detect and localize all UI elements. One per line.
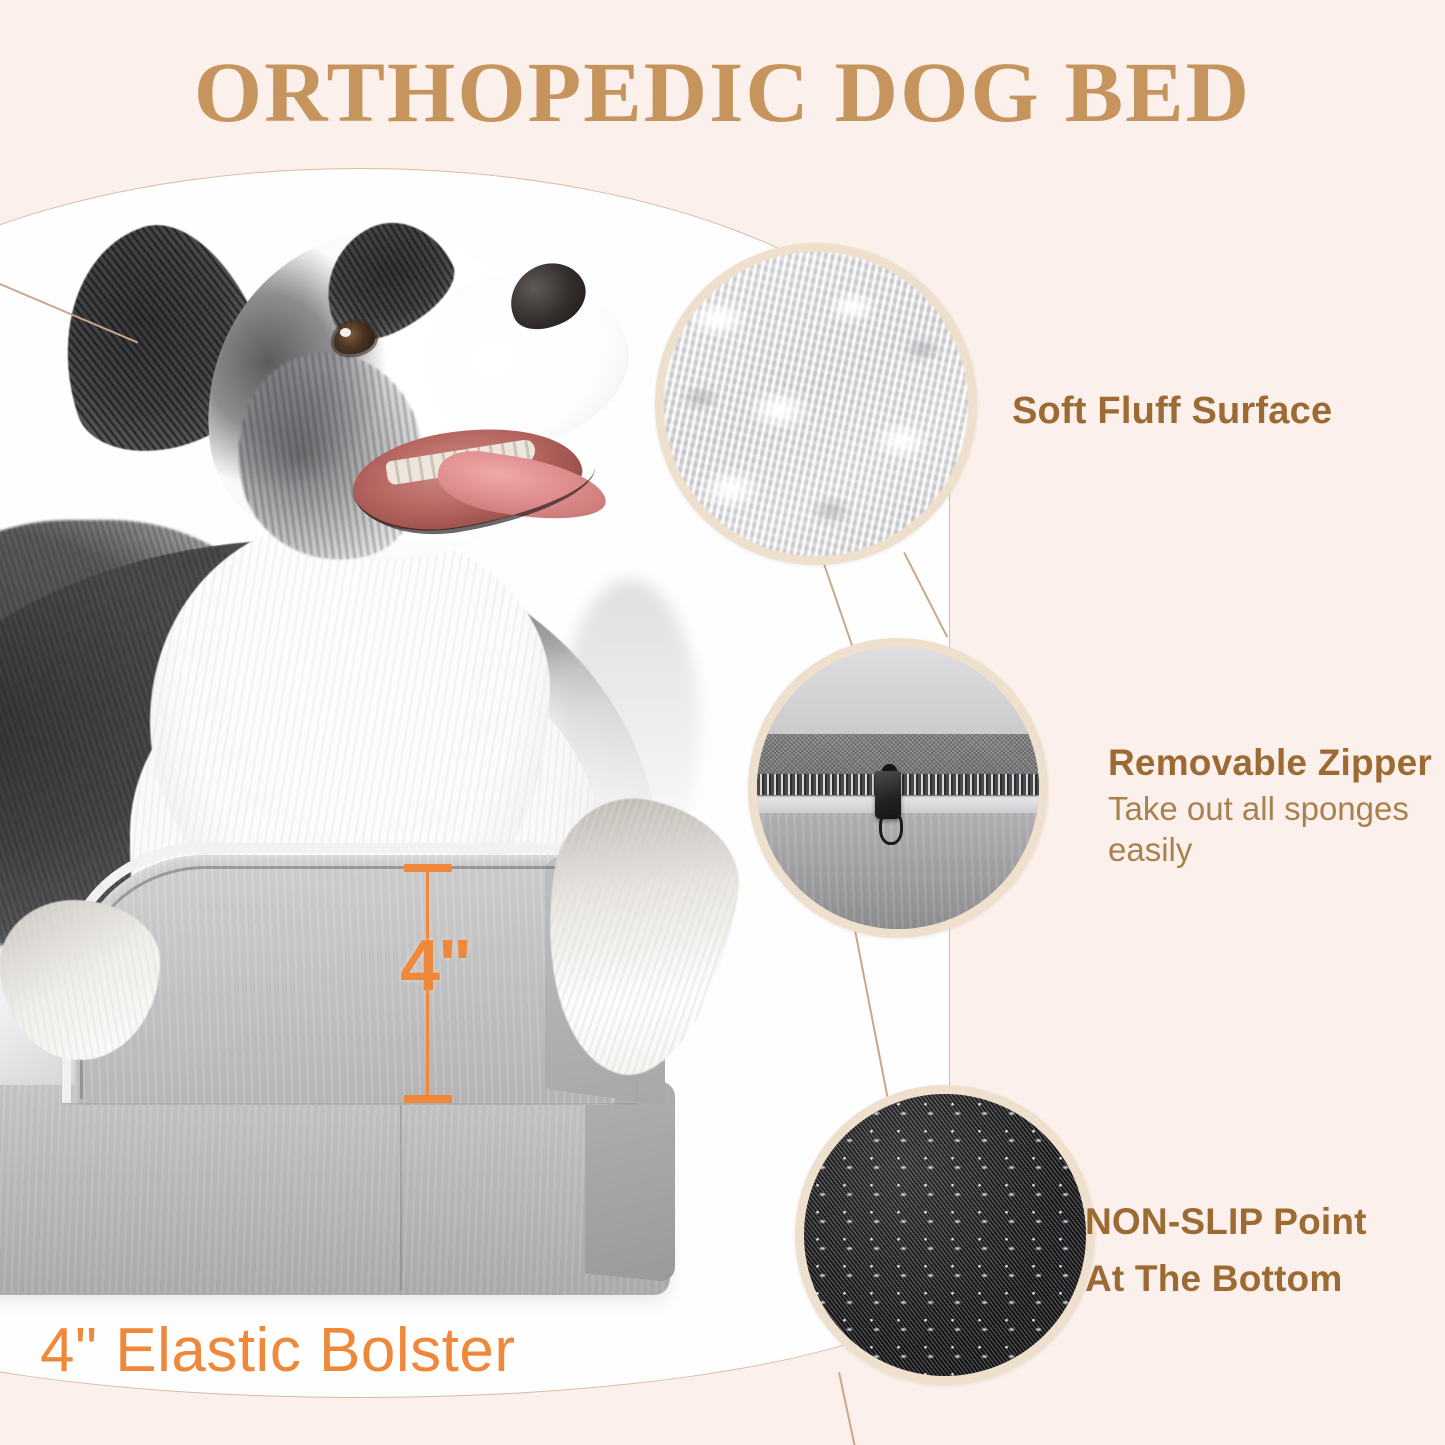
zipper-closeup-image (757, 647, 1039, 929)
feature-label-non-slip: NON-SLIP Point At The Bottom (1085, 1193, 1367, 1308)
feature-label-removable-zipper: Removable Zipper Take out all sponges ea… (1108, 742, 1438, 871)
dog-eye-glint (340, 328, 351, 337)
product-infographic: ORTHOPEDIC DOG BED (0, 0, 1445, 1445)
bolster-height-label: 4" (400, 930, 470, 1002)
feature-title-non-slip-line1: NON-SLIP Point (1085, 1193, 1367, 1250)
feature-label-soft-fluff: Soft Fluff Surface (1012, 390, 1332, 433)
bed-piping-stitch (80, 866, 618, 1099)
bed-base-seam (400, 1085, 402, 1290)
bolster-caption: 4" Elastic Bolster (40, 1315, 516, 1386)
feature-subtitle-removable-zipper: Take out all sponges easily (1108, 788, 1438, 871)
non-slip-fabric-image (804, 1094, 1086, 1376)
page-title: ORTHOPEDIC DOG BED (0, 42, 1445, 142)
zipper-pull-ring (879, 811, 903, 845)
callout-circle-non-slip (795, 1085, 1095, 1385)
feature-title-non-slip-line2: At The Bottom (1085, 1250, 1367, 1307)
bed-base (0, 1085, 670, 1295)
feature-title-removable-zipper: Removable Zipper (1108, 742, 1438, 784)
fluff-texture-image (664, 252, 968, 556)
non-slip-sheen (804, 1094, 1086, 1376)
dimension-cap-bottom (404, 1095, 452, 1103)
zipper-mesh-panel (757, 734, 1039, 773)
callout-circle-soft-fluff (655, 243, 977, 565)
zipper-top-fabric (757, 647, 1039, 734)
callout-circle-removable-zipper (748, 638, 1048, 938)
feature-title-soft-fluff: Soft Fluff Surface (1012, 390, 1332, 433)
